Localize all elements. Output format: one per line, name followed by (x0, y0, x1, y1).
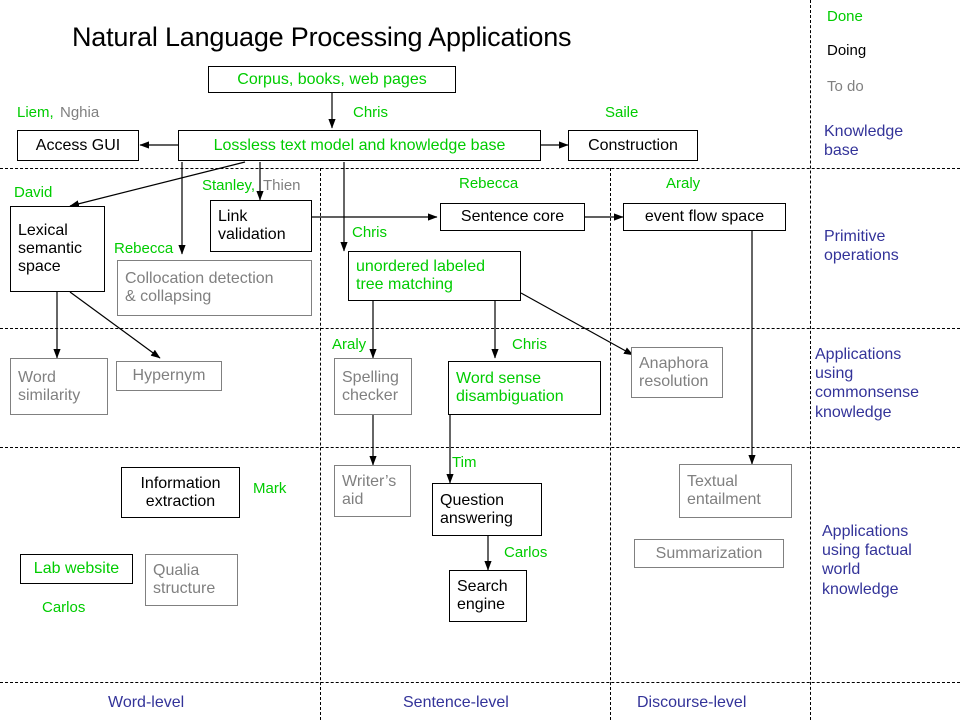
node-search-engine[interactable]: Search engine (449, 570, 527, 622)
row-caption-knowledge-base: Knowledge base (824, 122, 903, 160)
diagram-canvas: Natural Language Processing Applications… (0, 0, 960, 720)
owner-label-mark: Mark (253, 481, 286, 496)
owner-label-stanley: Stanley, (202, 178, 255, 193)
owner-label-tim: Tim (452, 455, 476, 470)
node-lexical-semantic-space[interactable]: Lexical semantic space (10, 206, 105, 292)
node-sentence-core[interactable]: Sentence core (440, 203, 585, 231)
legend-item-todo: To do (827, 79, 864, 94)
row-divider-1 (0, 168, 960, 169)
owner-label-thien: Thien (263, 178, 301, 193)
node-information-extraction[interactable]: Information extraction (121, 467, 240, 518)
row-caption-commonsense: Applications using commonsense knowledge (815, 345, 919, 422)
node-collocation-detection[interactable]: Collocation detection & collapsing (117, 260, 312, 316)
owner-label-araly-1: Araly (666, 176, 700, 191)
node-access-gui[interactable]: Access GUI (17, 130, 139, 161)
column-caption-sentence-level: Sentence-level (403, 694, 509, 712)
column-divider-2 (610, 168, 611, 720)
legend-item-done: Done (827, 9, 863, 24)
owner-label-chris-mid: Chris (352, 225, 387, 240)
owner-label-nghia: Nghia (60, 105, 99, 120)
column-caption-discourse-level: Discourse-level (637, 694, 746, 712)
node-hypernym[interactable]: Hypernym (116, 361, 222, 391)
node-writers-aid[interactable]: Writer’s aid (334, 465, 411, 517)
column-divider-1 (320, 168, 321, 720)
owner-label-david: David (14, 185, 52, 200)
page-title: Natural Language Processing Applications (72, 22, 571, 53)
column-divider-3 (810, 0, 811, 720)
node-textual-entailment[interactable]: Textual entailment (679, 464, 792, 518)
node-tree-matching[interactable]: unordered labeled tree matching (348, 251, 521, 301)
owner-label-rebecca-2: Rebecca (459, 176, 518, 191)
node-summarization[interactable]: Summarization (634, 539, 784, 568)
node-lab-website[interactable]: Lab website (20, 554, 133, 584)
node-lossless-text-model[interactable]: Lossless text model and knowledge base (178, 130, 541, 161)
node-qualia-structure[interactable]: Qualia structure (145, 554, 238, 606)
node-anaphora-resolution[interactable]: Anaphora resolution (631, 347, 723, 398)
legend-item-doing: Doing (827, 43, 866, 58)
row-divider-4 (0, 682, 960, 683)
owner-label-chris-low: Chris (512, 337, 547, 352)
owner-label-carlos-2: Carlos (42, 600, 85, 615)
node-corpus[interactable]: Corpus, books, web pages (208, 66, 456, 93)
node-construction[interactable]: Construction (568, 130, 698, 161)
node-question-answering[interactable]: Question answering (432, 483, 542, 536)
owner-label-saile: Saile (605, 105, 638, 120)
node-word-similarity[interactable]: Word similarity (10, 358, 108, 415)
row-caption-primitive-operations: Primitive operations (824, 227, 899, 265)
node-spelling-checker[interactable]: Spelling checker (334, 358, 412, 415)
node-link-validation[interactable]: Link validation (210, 200, 312, 252)
owner-label-rebecca-1: Rebecca (114, 241, 173, 256)
owner-label-araly-2: Araly (332, 337, 366, 352)
row-divider-3 (0, 447, 960, 448)
node-event-flow-space[interactable]: event flow space (623, 203, 786, 231)
row-divider-2 (0, 328, 960, 329)
owner-label-carlos-1: Carlos (504, 545, 547, 560)
column-caption-word-level: Word-level (108, 694, 184, 712)
node-word-sense-disambiguation[interactable]: Word sense disambiguation (448, 361, 601, 415)
owner-label-chris-top: Chris (353, 105, 388, 120)
owner-label-liem: Liem, (17, 105, 54, 120)
row-caption-factual-world: Applications using factual world knowled… (822, 522, 912, 599)
